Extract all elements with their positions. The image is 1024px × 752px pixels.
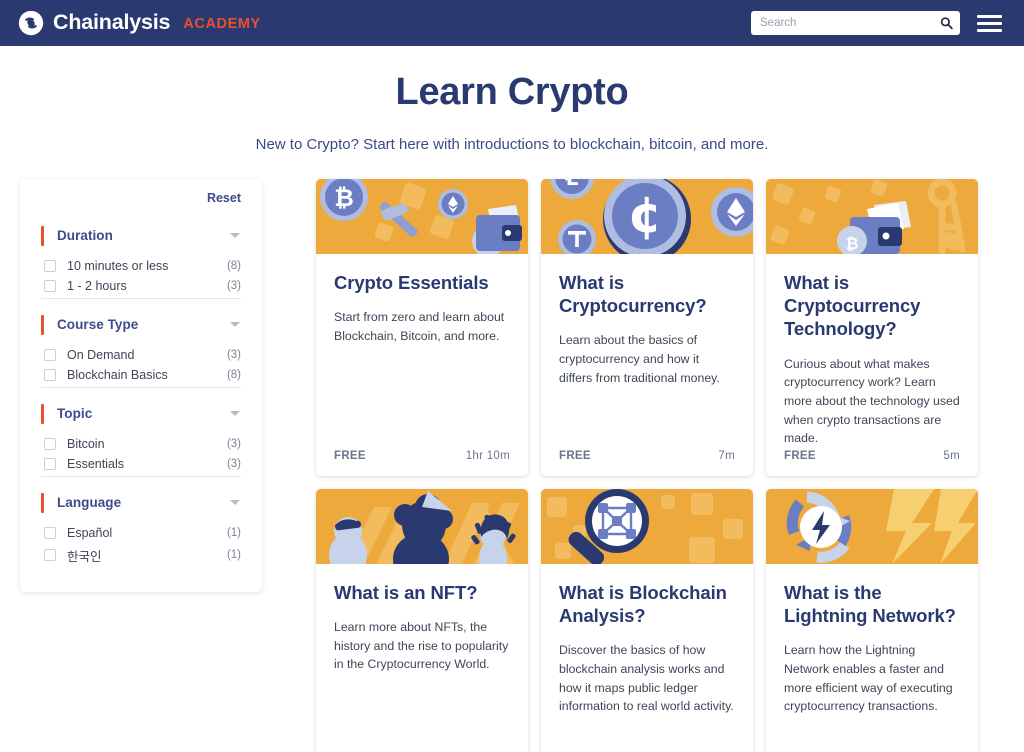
filter-group-title: Course Type bbox=[57, 317, 230, 332]
course-title: What is Blockchain Analysis? bbox=[559, 581, 735, 628]
top-navigation-bar: Chainalysis ACADEMY bbox=[0, 0, 1024, 46]
course-title: What is an NFT? bbox=[334, 581, 510, 604]
wallet-and-keys-illustration: ₿ bbox=[766, 179, 978, 254]
course-title: What is the Lightning Network? bbox=[784, 581, 960, 628]
filter-option[interactable]: 10 minutes or less(8) bbox=[41, 256, 241, 276]
course-card-body: What is the Lightning Network?Learn how … bbox=[766, 564, 978, 752]
chevron-down-icon[interactable] bbox=[230, 411, 240, 416]
svg-text:₿: ₿ bbox=[845, 234, 858, 253]
filter-option[interactable]: Essentials(3) bbox=[41, 454, 241, 474]
course-card[interactable]: What is Blockchain Analysis?Discover the… bbox=[541, 489, 753, 752]
svg-text:₿: ₿ bbox=[334, 184, 354, 212]
filter-option[interactable]: 1 - 2 hours(3) bbox=[41, 276, 241, 296]
filter-group-header[interactable]: Language bbox=[41, 481, 241, 523]
course-description: Learn about the basics of cryptocurrency… bbox=[559, 331, 735, 387]
course-duration: 5m bbox=[943, 450, 960, 462]
hero-section: Learn Crypto New to Crypto? Start here w… bbox=[0, 46, 1024, 153]
course-description: Curious about what makes cryptocurrency … bbox=[784, 355, 960, 448]
filter-checkbox[interactable] bbox=[44, 458, 56, 470]
course-card-footer: FREE1hr 10m bbox=[316, 450, 528, 476]
filter-option-count: (8) bbox=[227, 260, 241, 272]
course-title: Crypto Essentials bbox=[334, 271, 510, 294]
filter-checkbox[interactable] bbox=[44, 438, 56, 450]
filter-group: LanguageEspañol(1)한국인(1) bbox=[41, 476, 241, 570]
filter-option-label: 한국인 bbox=[67, 546, 227, 565]
course-card[interactable]: Ł ¢ What is Cryptocurrency?Learn about t… bbox=[541, 179, 753, 476]
course-card-footer: FREE5m bbox=[766, 450, 978, 476]
filter-option-count: (1) bbox=[227, 549, 241, 561]
filter-accent-bar bbox=[41, 315, 44, 335]
filter-group-header[interactable]: Duration bbox=[41, 214, 241, 256]
page-title: Learn Crypto bbox=[0, 72, 1024, 114]
filter-sidebar: Reset Duration10 minutes or less(8)1 - 2… bbox=[20, 179, 262, 592]
filter-option-label: Blockchain Basics bbox=[67, 368, 227, 382]
filter-accent-bar bbox=[41, 404, 44, 424]
filter-checkbox[interactable] bbox=[44, 369, 56, 381]
course-card-body: What is an NFT?Learn more about NFTs, th… bbox=[316, 564, 528, 752]
filter-option-label: Español bbox=[67, 526, 227, 540]
reset-filters-link[interactable]: Reset bbox=[207, 191, 241, 205]
course-card[interactable]: What is an NFT?Learn more about NFTs, th… bbox=[316, 489, 528, 752]
filter-option[interactable]: On Demand(3) bbox=[41, 345, 241, 365]
course-duration: 7m bbox=[718, 450, 735, 462]
course-description: Discover the basics of how blockchain an… bbox=[559, 641, 735, 716]
course-duration: 1hr 10m bbox=[466, 450, 510, 462]
nft-avatars-illustration bbox=[316, 489, 528, 564]
hamburger-bar bbox=[977, 29, 1002, 32]
course-title: What is Cryptocurrency? bbox=[559, 271, 735, 318]
course-card[interactable]: ₿ ₿ Crypto EssentialsStart from zero and… bbox=[316, 179, 528, 476]
course-card-footer: FREE7m bbox=[541, 450, 753, 476]
filter-group: Course TypeOn Demand(3)Blockchain Basics… bbox=[41, 298, 241, 387]
filter-option-label: On Demand bbox=[67, 348, 227, 362]
course-card-body: What is Blockchain Analysis?Discover the… bbox=[541, 564, 753, 752]
filter-groups: Duration10 minutes or less(8)1 - 2 hours… bbox=[41, 214, 241, 570]
search-input[interactable] bbox=[751, 11, 960, 35]
svg-text:¢: ¢ bbox=[628, 186, 663, 244]
chevron-down-icon[interactable] bbox=[230, 233, 240, 238]
filter-option[interactable]: 한국인(1) bbox=[41, 543, 241, 568]
brand-logo-link[interactable]: Chainalysis ACADEMY bbox=[18, 10, 261, 36]
filter-option-count: (3) bbox=[227, 438, 241, 450]
course-card-body: What is Cryptocurrency Technology?Curiou… bbox=[766, 254, 978, 450]
filter-checkbox[interactable] bbox=[44, 280, 56, 292]
course-price: FREE bbox=[559, 450, 591, 462]
reset-row: Reset bbox=[41, 191, 241, 205]
brand-subtitle: ACADEMY bbox=[183, 17, 261, 32]
filter-option[interactable]: Blockchain Basics(8) bbox=[41, 365, 241, 385]
filter-group-header[interactable]: Course Type bbox=[41, 303, 241, 345]
filter-checkbox[interactable] bbox=[44, 527, 56, 539]
course-description: Learn more about NFTs, the history and t… bbox=[334, 618, 510, 674]
hamburger-menu-icon[interactable] bbox=[977, 14, 1002, 33]
course-price: FREE bbox=[784, 450, 816, 462]
page-body: Reset Duration10 minutes or less(8)1 - 2… bbox=[0, 153, 1024, 752]
course-card-grid: ₿ ₿ Crypto EssentialsStart from zero and… bbox=[316, 179, 980, 752]
filter-checkbox[interactable] bbox=[44, 260, 56, 272]
filter-checkbox[interactable] bbox=[44, 349, 56, 361]
chainalysis-logo-icon bbox=[18, 10, 44, 36]
bitcoin-pickaxe-wallet-illustration: ₿ ₿ bbox=[316, 179, 528, 254]
top-navigation-right bbox=[751, 11, 1002, 35]
filter-group: TopicBitcoin(3)Essentials(3) bbox=[41, 387, 241, 476]
filter-accent-bar bbox=[41, 226, 44, 246]
filter-group-title: Duration bbox=[57, 228, 230, 243]
filter-option-count: (3) bbox=[227, 349, 241, 361]
filter-option[interactable]: Español(1) bbox=[41, 523, 241, 543]
course-description: Learn how the Lightning Network enables … bbox=[784, 641, 960, 716]
course-card[interactable]: ₿ What is Cryptocurrency Technology?Curi… bbox=[766, 179, 978, 476]
filter-option-count: (8) bbox=[227, 369, 241, 381]
filter-option-count: (1) bbox=[227, 527, 241, 539]
filter-accent-bar bbox=[41, 493, 44, 513]
filter-group-title: Topic bbox=[57, 406, 230, 421]
course-card[interactable]: What is the Lightning Network?Learn how … bbox=[766, 489, 978, 752]
chevron-down-icon[interactable] bbox=[230, 322, 240, 327]
filter-option-label: 10 minutes or less bbox=[67, 259, 227, 273]
filter-group-header[interactable]: Topic bbox=[41, 392, 241, 434]
course-price: FREE bbox=[334, 450, 366, 462]
course-card-body: Crypto EssentialsStart from zero and lea… bbox=[316, 254, 528, 450]
filter-option-label: Essentials bbox=[67, 457, 227, 471]
search-box[interactable] bbox=[751, 11, 960, 35]
hamburger-bar bbox=[977, 15, 1002, 18]
course-card-body: What is Cryptocurrency?Learn about the b… bbox=[541, 254, 753, 450]
crypto-coins-illustration: Ł ¢ bbox=[541, 179, 753, 254]
filter-group: Duration10 minutes or less(8)1 - 2 hours… bbox=[41, 214, 241, 298]
course-description: Start from zero and learn about Blockcha… bbox=[334, 308, 510, 345]
filter-option[interactable]: Bitcoin(3) bbox=[41, 434, 241, 454]
course-title: What is Cryptocurrency Technology? bbox=[784, 271, 960, 341]
page-subtitle: New to Crypto? Start here with introduct… bbox=[0, 136, 1024, 153]
filter-group-title: Language bbox=[57, 495, 230, 510]
filter-option-label: 1 - 2 hours bbox=[67, 279, 227, 293]
hamburger-bar bbox=[977, 22, 1002, 25]
svg-text:Ł: Ł bbox=[565, 179, 579, 190]
filter-option-count: (3) bbox=[227, 280, 241, 292]
filter-option-count: (3) bbox=[227, 458, 241, 470]
brand-name: Chainalysis bbox=[53, 12, 170, 34]
filter-option-label: Bitcoin bbox=[67, 437, 227, 451]
search-icon[interactable] bbox=[940, 17, 953, 30]
lightning-bolts-illustration bbox=[766, 489, 978, 564]
chevron-down-icon[interactable] bbox=[230, 500, 240, 505]
filter-checkbox[interactable] bbox=[44, 549, 56, 561]
magnifier-network-illustration bbox=[541, 489, 753, 564]
